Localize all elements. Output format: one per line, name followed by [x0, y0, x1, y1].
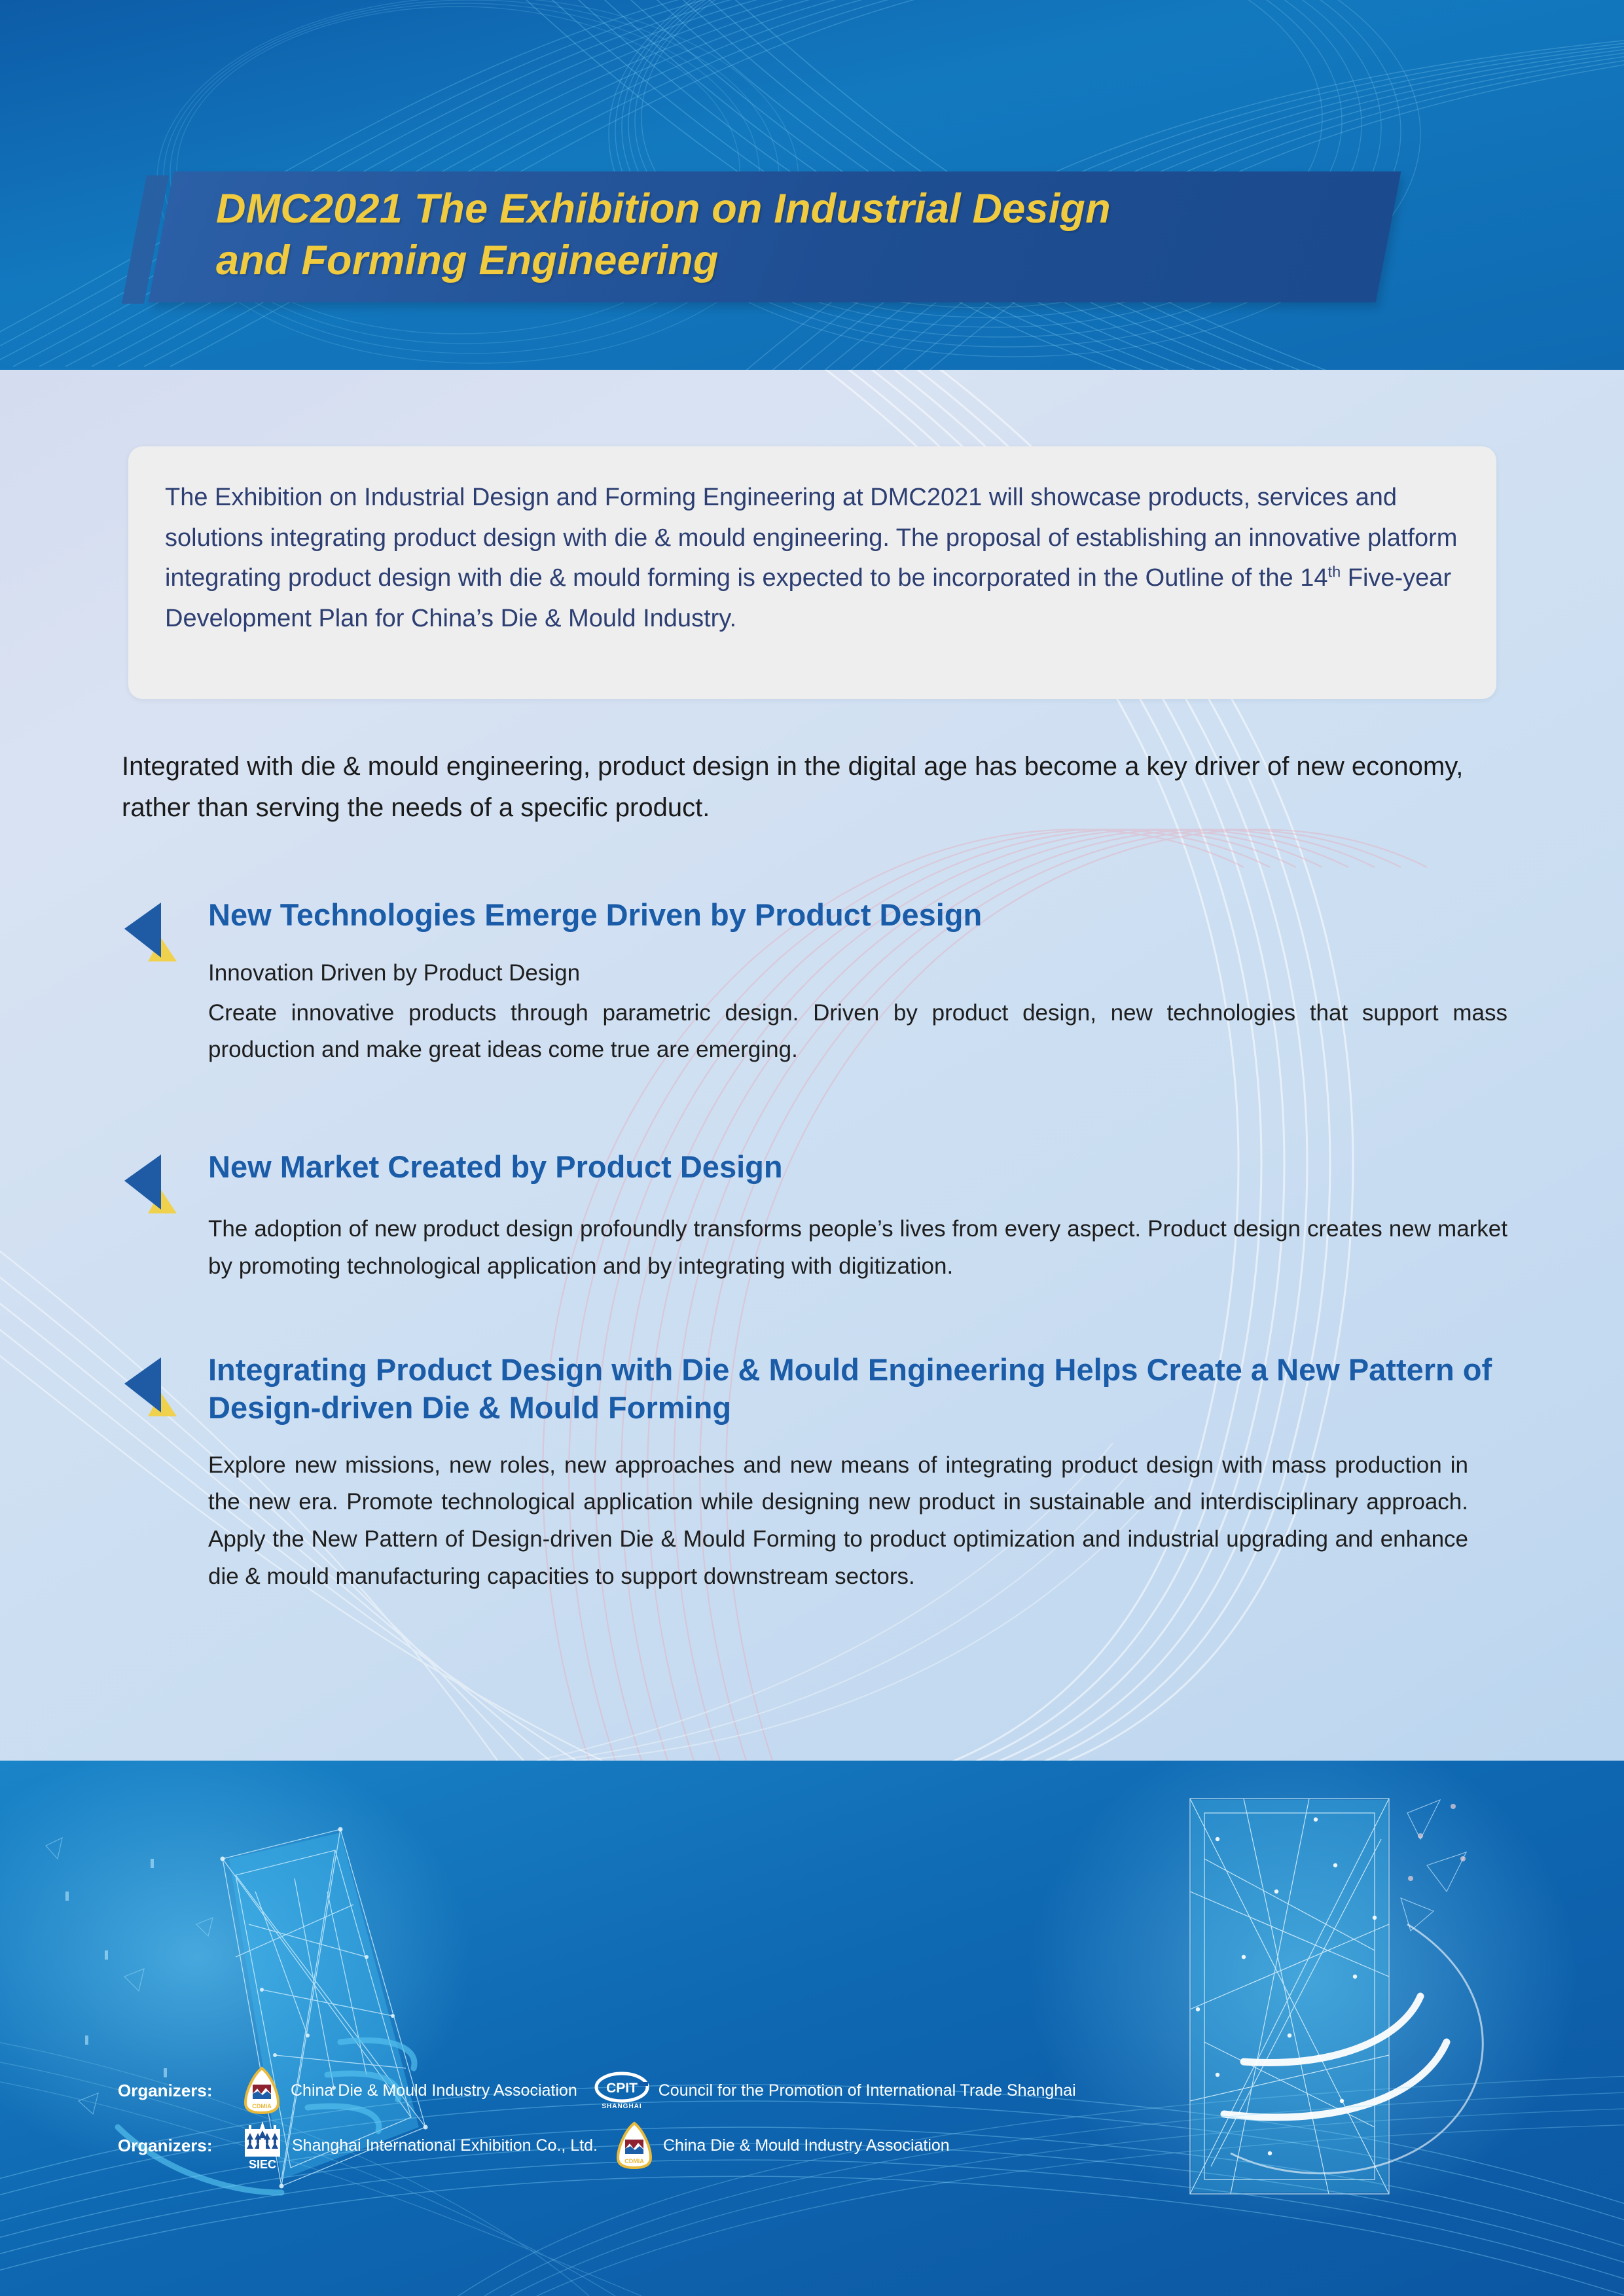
- section-subtitle: Innovation Driven by Product Design: [208, 956, 1516, 991]
- cdmia-logo: CDMIA: [615, 2121, 654, 2170]
- page-title-line2: and Forming Engineering: [216, 235, 1394, 287]
- section-header: New Market Created by Product Design: [122, 1145, 1516, 1191]
- organizers-row: Organizers:: [118, 2118, 1165, 2173]
- cpit-logo-subtext: SHANGHAI: [602, 2103, 641, 2110]
- organizer-name: China Die & Mould Industry Association: [663, 2136, 950, 2155]
- intro-card: The Exhibition on Industrial Design and …: [128, 446, 1496, 699]
- cdmia-logo: CDMIA: [242, 2066, 281, 2115]
- header-banner: DMC2021 The Exhibition on Industrial Des…: [0, 0, 1624, 370]
- section-body: Explore new missions, new roles, new app…: [208, 1447, 1468, 1596]
- section-title: New Technologies Emerge Driven by Produc…: [208, 893, 1516, 934]
- organizers-row: Organizers: CDMIA China Die & Mould Indu…: [118, 2063, 1165, 2118]
- cpit-shanghai-logo: CPIT SHANGHAI: [594, 2070, 649, 2111]
- organizers-label: Organizers:: [118, 2081, 242, 2101]
- intro-superscript: th: [1328, 563, 1341, 580]
- arrow-marker-icon: [122, 897, 191, 963]
- cdmia-logo-icon: CDMIA: [615, 2121, 654, 2170]
- organizers-label: Organizers:: [118, 2136, 242, 2156]
- cpit-logo-text: CPIT: [606, 2081, 638, 2096]
- arrow-marker-icon: [122, 1149, 191, 1215]
- page-title: DMC2021 The Exhibition on Industrial Des…: [216, 183, 1394, 287]
- section-body: The adoption of new product design profo…: [208, 1211, 1507, 1285]
- intro-part1: The Exhibition on Industrial Design and …: [165, 484, 1457, 592]
- section-new-technologies: New Technologies Emerge Driven by Produc…: [122, 893, 1516, 1069]
- section-header: New Technologies Emerge Driven by Produc…: [122, 893, 1516, 939]
- organizer-name: China Die & Mould Industry Association: [291, 2081, 577, 2100]
- cdmia-logo-icon: CDMIA: [242, 2066, 281, 2115]
- organizers-block: Organizers: CDMIA China Die & Mould Indu…: [118, 2063, 1165, 2173]
- section-integrating-product-design: Integrating Product Design with Die & Mo…: [122, 1348, 1516, 1595]
- footer-banner: Organizers: CDMIA China Die & Mould Indu…: [0, 1761, 1624, 2296]
- section-title: Integrating Product Design with Die & Mo…: [208, 1348, 1516, 1427]
- section-header: Integrating Product Design with Die & Mo…: [122, 1348, 1516, 1427]
- section-body: Create innovative products through param…: [208, 995, 1507, 1069]
- lead-statement: Integrated with die & mould engineering,…: [122, 746, 1509, 829]
- arrow-marker-icon: [122, 1352, 191, 1418]
- content-area: The Exhibition on Industrial Design and …: [0, 370, 1624, 1761]
- cdmia-logo-text: CDMIA: [624, 2158, 644, 2164]
- section-new-market: New Market Created by Product Design The…: [122, 1145, 1516, 1285]
- siec-logo-text: SIEC: [249, 2158, 276, 2171]
- siec-logo: SIEC: [242, 2120, 283, 2171]
- cdmia-logo-text: CDMIA: [252, 2103, 272, 2109]
- organizer-name: Shanghai International Exhibition Co., L…: [292, 2136, 598, 2155]
- footer-graphic-decoration: [0, 1761, 1624, 2296]
- intro-paragraph: The Exhibition on Industrial Design and …: [165, 478, 1461, 639]
- page-title-line1: DMC2021 The Exhibition on Industrial Des…: [216, 183, 1394, 235]
- organizer-name: Council for the Promotion of Internation…: [659, 2081, 1076, 2100]
- section-title: New Market Created by Product Design: [208, 1145, 1516, 1186]
- siec-logo-icon: SIEC: [242, 2120, 283, 2171]
- poster-page: DMC2021 The Exhibition on Industrial Des…: [0, 0, 1624, 2296]
- cpit-logo-icon: CPIT SHANGHAI: [594, 2070, 649, 2111]
